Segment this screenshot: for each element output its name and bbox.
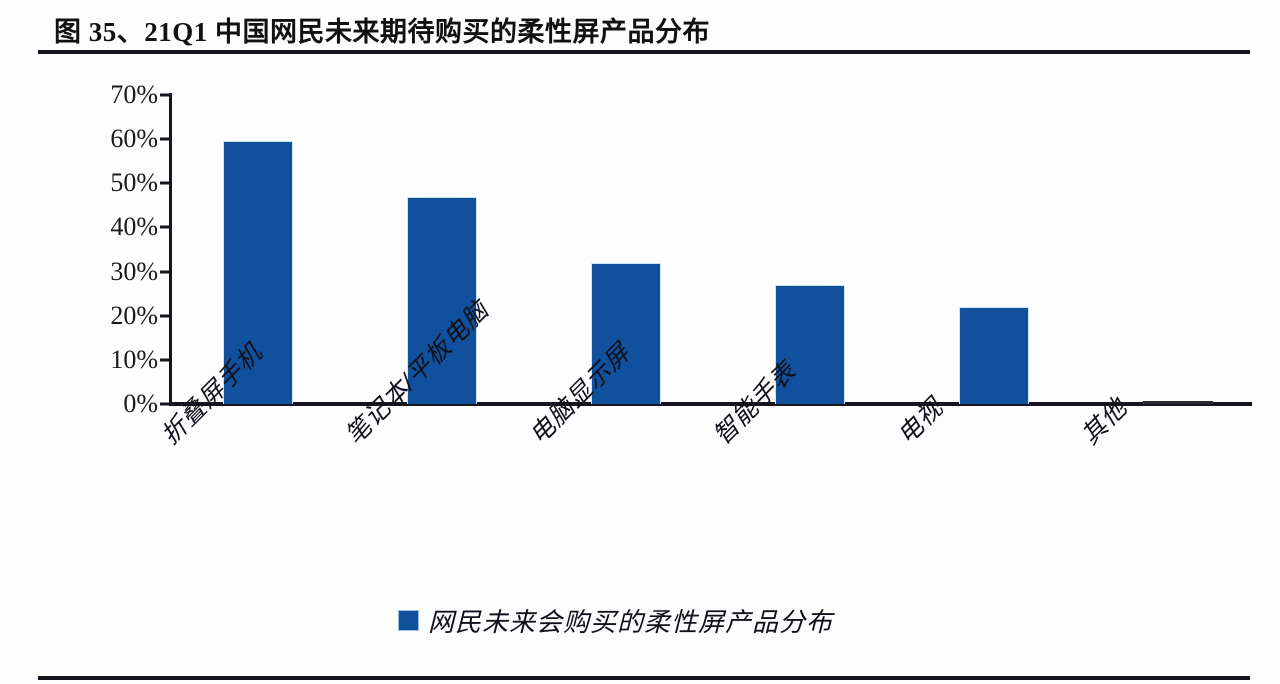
y-axis-tick-label: 50% xyxy=(78,168,158,198)
y-axis-tick-label: 10% xyxy=(78,345,158,375)
bar xyxy=(959,307,1029,404)
y-axis-tick-mark xyxy=(160,270,172,273)
legend-entry-label: 网民未来会购买的柔性屏产品分布 xyxy=(428,602,833,639)
y-axis-tick-label: 30% xyxy=(78,257,158,287)
chart-legend: 网民未来会购买的柔性屏产品分布 xyxy=(398,602,833,639)
bar xyxy=(1143,401,1213,404)
y-axis-tick-mark xyxy=(160,358,172,361)
y-axis-tick-mark xyxy=(160,226,172,229)
y-axis-tick-mark xyxy=(160,314,172,317)
bar-chart: 70%60%50%40%30%20%10%0% 折叠屏手机笔记本/平板电脑电脑显… xyxy=(0,0,1280,684)
y-axis-tick-mark xyxy=(160,138,172,141)
x-axis-tick-label: 其他 xyxy=(1072,389,1134,451)
figure-panel: 图 35、21Q1 中国网民未来期待购买的柔性屏产品分布 70%60%50%40… xyxy=(0,0,1280,684)
x-axis-tick-label: 电视 xyxy=(888,389,950,451)
y-axis-tick-mark xyxy=(160,182,172,185)
bottom-divider xyxy=(38,676,1250,680)
y-axis-tick-labels: 70%60%50%40%30%20%10%0% xyxy=(78,0,158,684)
y-axis-tick-label: 20% xyxy=(78,301,158,331)
y-axis-tick-label: 0% xyxy=(78,389,158,419)
y-axis-tick-label: 60% xyxy=(78,124,158,154)
y-axis-tick-mark xyxy=(160,403,172,406)
y-axis-tick-label: 40% xyxy=(78,212,158,242)
y-axis-tick-mark xyxy=(160,94,172,97)
y-axis-tick-label: 70% xyxy=(78,80,158,110)
x-axis-line xyxy=(169,402,1252,406)
legend-color-swatch xyxy=(398,610,419,631)
